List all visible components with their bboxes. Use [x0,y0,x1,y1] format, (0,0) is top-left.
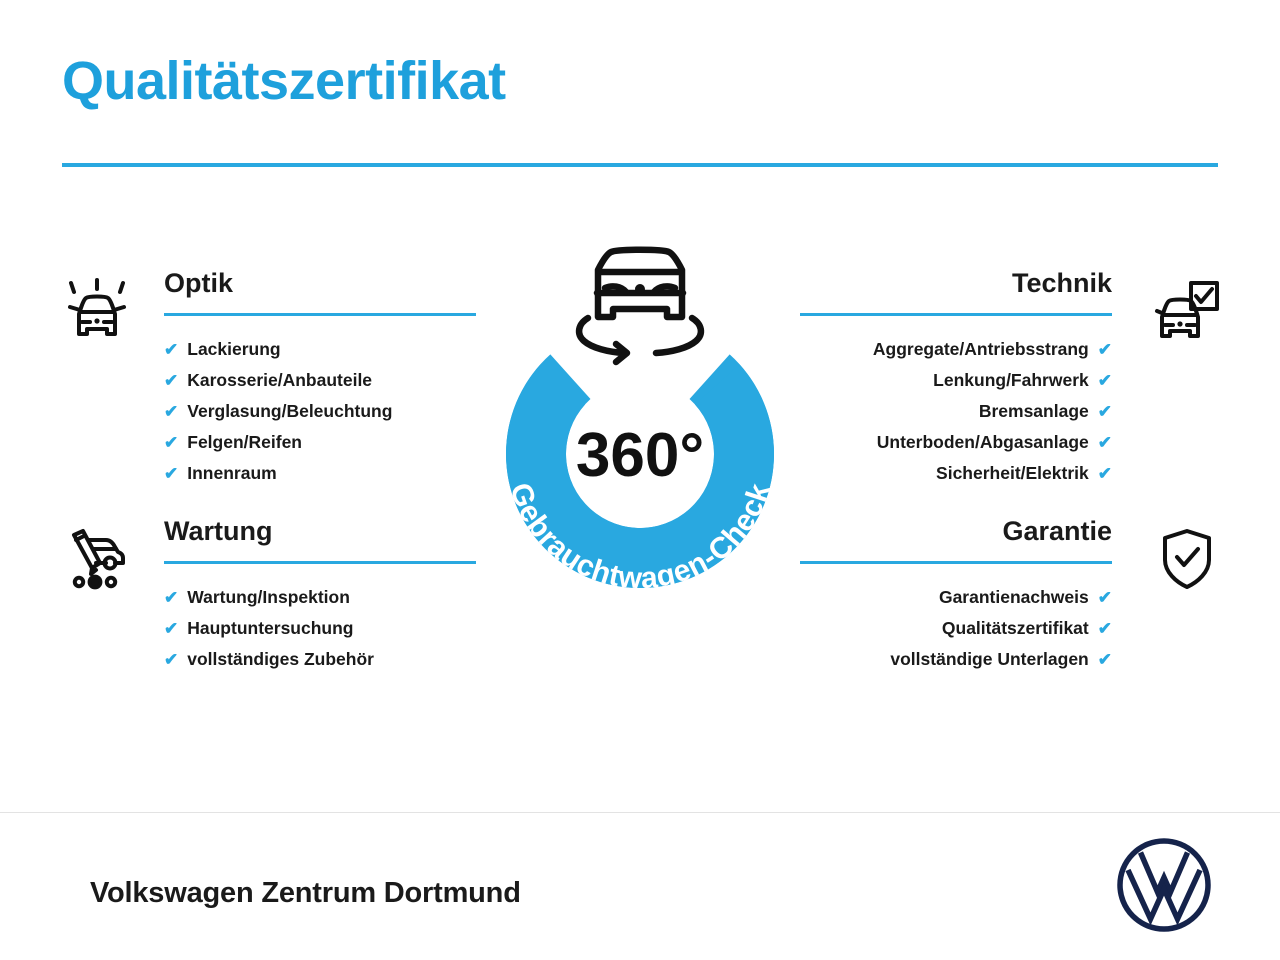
gebrauchtwagen-check-badge: Gebrauchtwagen-Check 360° [466,242,814,610]
main-content: Optik ✔ Lackierung ✔ Karosserie/Anbautei… [0,228,1280,788]
section-title: Technik [800,270,1112,297]
check-icon: ✔ [1098,459,1112,489]
check-icon: ✔ [1098,428,1112,458]
list-item: ✔ Wartung/Inspektion [164,582,476,613]
section-title: Garantie [800,518,1112,545]
list-item: Aggregate/Antriebsstrang ✔ [800,334,1112,365]
list-item: ✔ Innenraum [164,458,476,489]
list-item-label: Innenraum [187,458,276,488]
section-garantie: Garantie Garantienachweis ✔ Qualitätszer… [800,518,1230,675]
section-technik: Technik Aggregate/Antriebsstrang ✔ Lenku… [800,270,1230,489]
list-item-label: Garantienachweis [939,582,1089,612]
page-footer: Volkswagen Zentrum Dortmund [0,813,1280,960]
list-item: ✔ Hauptuntersuchung [164,613,476,644]
list-item-label: Karosserie/Anbauteile [187,365,372,395]
check-icon: ✔ [164,397,178,427]
car-checkbox-icon [1150,274,1224,348]
list-item-label: Bremsanlage [979,396,1089,426]
list-item: vollständige Unterlagen ✔ [800,644,1112,675]
check-icon: ✔ [164,428,178,458]
list-item: Lenkung/Fahrwerk ✔ [800,365,1112,396]
list-item-label: Hauptuntersuchung [187,613,353,643]
list-item: Unterboden/Abgasanlage ✔ [800,427,1112,458]
list-item: Sicherheit/Elektrik ✔ [800,458,1112,489]
list-item-label: Sicherheit/Elektrik [936,458,1089,488]
page-header: Qualitätszertifikat [62,52,1218,167]
check-icon: ✔ [1098,397,1112,427]
list-item: ✔ Verglasung/Beleuchtung [164,396,476,427]
list-item-label: Unterboden/Abgasanlage [877,427,1089,457]
check-icon: ✔ [164,459,178,489]
car-shine-icon [60,274,134,348]
check-icon: ✔ [164,335,178,365]
shield-check-icon [1150,522,1224,596]
check-icon: ✔ [1098,614,1112,644]
list-item: ✔ Karosserie/Anbauteile [164,365,476,396]
checklist-technik: Aggregate/Antriebsstrang ✔ Lenkung/Fahrw… [800,334,1112,489]
checklist-garantie: Garantienachweis ✔ Qualitätszertifikat ✔… [800,582,1112,675]
check-icon: ✔ [164,366,178,396]
check-icon: ✔ [164,583,178,613]
car-front-rotate-icon [579,250,701,362]
checklist-wartung: ✔ Wartung/Inspektion ✔ Hauptuntersuchung… [164,582,476,675]
list-item-label: vollständiges Zubehör [187,644,374,674]
list-item: Bremsanlage ✔ [800,396,1112,427]
section-divider [800,313,1112,316]
section-divider [800,561,1112,564]
list-item: Garantienachweis ✔ [800,582,1112,613]
section-title: Wartung [164,518,476,545]
list-item-label: Lenkung/Fahrwerk [933,365,1089,395]
badge-center-label: 360° [576,421,704,490]
list-item: ✔ Felgen/Reifen [164,427,476,458]
page-title: Qualitätszertifikat [62,52,1218,111]
check-icon: ✔ [1098,366,1112,396]
section-header: Garantie [800,518,1112,582]
section-wartung: Wartung ✔ Wartung/Inspektion ✔ Hauptunte… [46,518,476,675]
title-divider [62,163,1218,167]
car-service-pen-icon [60,522,134,596]
list-item: Qualitätszertifikat ✔ [800,613,1112,644]
section-header: Technik [800,270,1112,334]
list-item-label: Verglasung/Beleuchtung [187,396,392,426]
check-icon: ✔ [1098,645,1112,675]
check-icon: ✔ [164,645,178,675]
section-header: Wartung [164,518,476,582]
list-item-label: Wartung/Inspektion [187,582,350,612]
section-divider [164,561,476,564]
list-item: ✔ vollständiges Zubehör [164,644,476,675]
list-item-label: Lackierung [187,334,280,364]
list-item-label: Aggregate/Antriebsstrang [873,334,1089,364]
dealer-name: Volkswagen Zentrum Dortmund [90,877,521,910]
list-item-label: Felgen/Reifen [187,427,302,457]
list-item-label: Qualitätszertifikat [942,613,1089,643]
volkswagen-logo [1114,835,1214,935]
check-icon: ✔ [164,614,178,644]
list-item: ✔ Lackierung [164,334,476,365]
section-optik: Optik ✔ Lackierung ✔ Karosserie/Anbautei… [46,270,476,489]
check-icon: ✔ [1098,583,1112,613]
section-header: Optik [164,270,476,334]
certificate-page: Qualitätszertifikat [0,0,1280,960]
section-title: Optik [164,270,476,297]
list-item-label: vollständige Unterlagen [890,644,1088,674]
section-divider [164,313,476,316]
checklist-optik: ✔ Lackierung ✔ Karosserie/Anbauteile ✔ V… [164,334,476,489]
check-icon: ✔ [1098,335,1112,365]
